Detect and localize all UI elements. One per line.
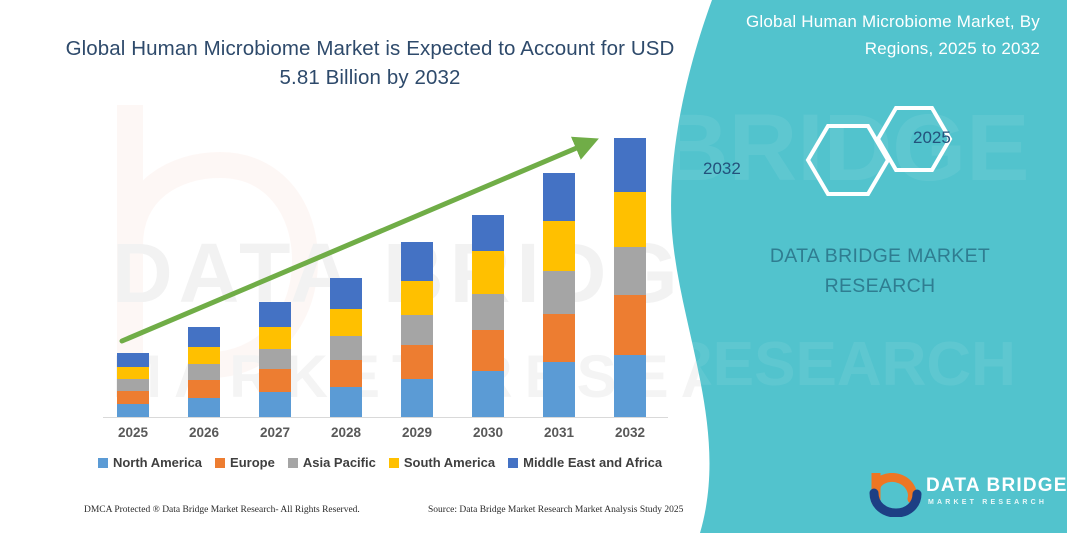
legend-item-north-america[interactable]: North America [98,455,202,470]
bar-segment [472,371,504,417]
bar-segment [330,278,362,309]
legend-swatch-icon [215,458,225,468]
legend-swatch-icon [508,458,518,468]
bar-segment [401,242,433,281]
bar-segment [188,327,220,347]
bar-segment [259,302,291,327]
hexagon-2032-icon [808,126,888,194]
hexagon-2032-label: 2032 [703,159,741,179]
bar-2029 [401,242,433,417]
x-axis-label-2025: 2025 [103,425,163,440]
bar-segment [188,398,220,417]
company-logo: DATA BRIDGE MARKET RESEARCH [868,473,1048,521]
bar-2032 [614,138,646,417]
bar-segment [401,315,433,345]
bar-segment [330,309,362,336]
infographic-canvas: DATA BRIDGE MARKET RESEARCH Global Human… [0,0,1067,533]
hexagon-group [790,95,1020,225]
bar-segment [259,327,291,349]
x-axis-label-2027: 2027 [245,425,305,440]
bar-segment [188,380,220,398]
bar-segment [117,367,149,379]
legend-swatch-icon [98,458,108,468]
bar-segment [472,251,504,294]
hexagon-icons [790,95,1020,225]
bar-segment [330,360,362,387]
legend-label: North America [113,455,202,470]
x-axis-label-2028: 2028 [316,425,376,440]
bar-segment [117,404,149,417]
legend-item-middle-east-and-africa[interactable]: Middle East and Africa [508,455,662,470]
bar-segment [543,173,575,221]
bar-segment [401,345,433,379]
bar-2025 [117,353,149,417]
bar-segment [117,391,149,404]
footer-source: Source: Data Bridge Market Research Mark… [428,505,683,515]
legend-item-asia-pacific[interactable]: Asia Pacific [288,455,376,470]
bar-segment [614,355,646,417]
chart-legend: North AmericaEuropeAsia PacificSouth Ame… [0,455,760,470]
bar-segment [614,138,646,192]
bar-segment [259,392,291,417]
x-axis-label-2030: 2030 [458,425,518,440]
bar-segment [401,379,433,417]
bar-2031 [543,173,575,417]
bar-segment [259,369,291,392]
brand-line-1: DATA BRIDGE MARKET [770,245,990,267]
bar-segment [614,295,646,355]
hexagon-2025-label: 2025 [913,128,951,148]
databridge-mark-icon [868,473,924,517]
bar-segment [543,221,575,271]
svg-text:RESEARCH: RESEARCH [668,330,1016,399]
brand-line-2: RESEARCH [825,275,936,297]
x-axis-label-2026: 2026 [174,425,234,440]
bar-segment [330,336,362,360]
legend-item-south-america[interactable]: South America [389,455,495,470]
bar-segment [614,192,646,247]
legend-label: Europe [230,455,275,470]
legend-label: Middle East and Africa [523,455,662,470]
bar-segment [401,281,433,315]
bar-2026 [188,327,220,417]
legend-swatch-icon [288,458,298,468]
bar-segment [543,314,575,362]
chart-plot-area: 20252026202720282029203020312032 [0,0,760,533]
bar-segment [543,362,575,417]
chart-pane: DATA BRIDGE MARKET RESEARCH Global Human… [0,0,760,533]
legend-swatch-icon [389,458,399,468]
bar-segment [472,215,504,251]
bar-2030 [472,215,504,417]
bar-segment [188,364,220,380]
bar-2027 [259,302,291,417]
bar-segment [188,347,220,364]
bar-2028 [330,278,362,417]
brand-name: DATA BRIDGE MARKET RESEARCH [710,241,1050,301]
x-axis-label-2029: 2029 [387,425,447,440]
panel-title: Global Human Microbiome Market, By Regio… [730,8,1040,62]
footer: DMCA Protected ® Data Bridge Market Rese… [0,505,700,525]
panel-content: BRIDGE RESEARCH Global Human Microbiome … [650,0,1067,533]
bar-segment [330,387,362,417]
bar-segment [472,294,504,330]
bar-segment [614,247,646,295]
x-axis-labels: 20252026202720282029203020312032 [0,425,760,445]
footer-copyright: DMCA Protected ® Data Bridge Market Rese… [84,505,360,515]
bar-segment [472,330,504,371]
bar-segment [117,379,149,391]
logo-wordmark: DATA BRIDGE [926,475,1067,497]
legend-label: Asia Pacific [303,455,376,470]
logo-subtext: MARKET RESEARCH [928,499,1047,506]
growth-arrow-icon [0,0,760,533]
x-axis-label-2031: 2031 [529,425,589,440]
bar-segment [543,271,575,314]
legend-label: South America [404,455,495,470]
bar-segment [259,349,291,369]
bar-segment [117,353,149,367]
legend-item-europe[interactable]: Europe [215,455,275,470]
